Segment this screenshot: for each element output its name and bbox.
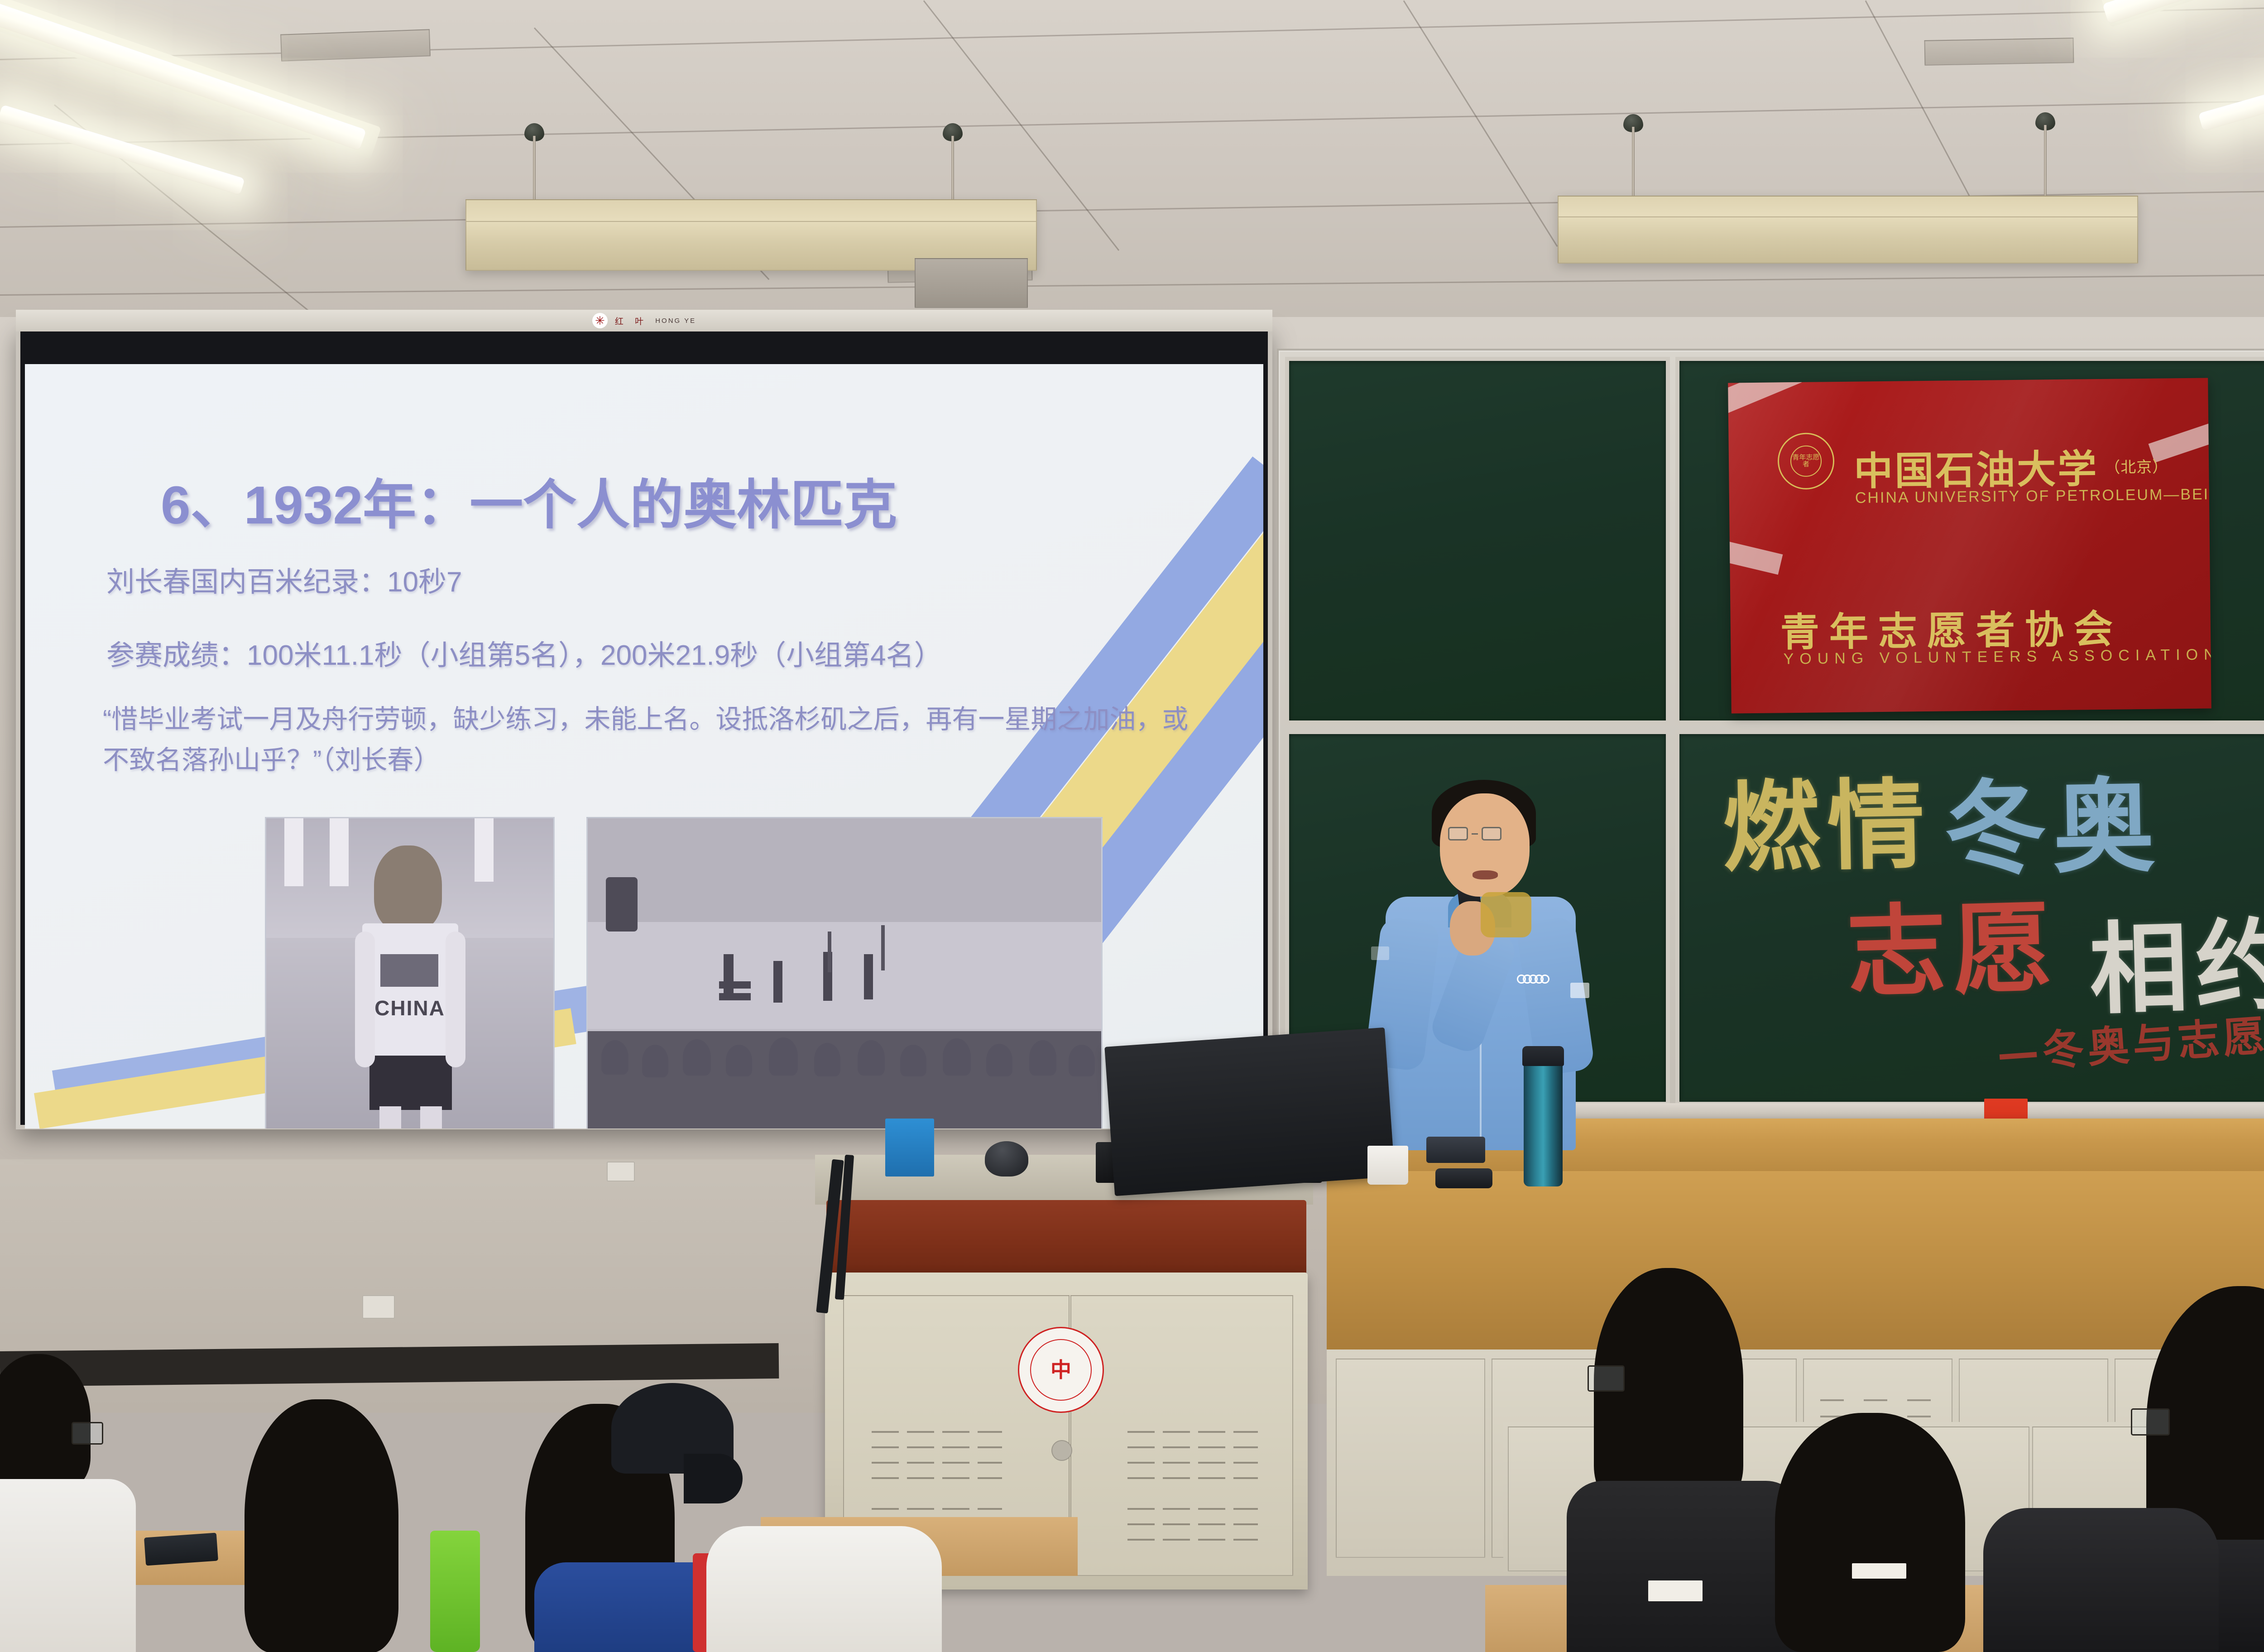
slide-photo-crowd (588, 1031, 1101, 1129)
smartphone[interactable] (1426, 1137, 1485, 1163)
wall-outlet-screen[interactable] (607, 1162, 635, 1181)
student-right-5 (1983, 1508, 2219, 1652)
projection-screen: 6、1932年：一个人的奥林匹克 刘长春国内百米纪录：10秒7 参赛成绩：100… (16, 327, 1272, 1129)
volunteer-seal-inner-text: 青年志愿者 (1790, 445, 1822, 477)
classroom-photo-scene: 6、1932年：一个人的奥林匹克 刘长春国内百米纪录：10秒7 参赛成绩：100… (0, 0, 2264, 1652)
slide-stat-record: 刘长春国内百米纪录：10秒7 (106, 559, 462, 600)
blackboard-panel-right-lower: 燃情 冬奥 志愿 相约 —冬奥与志愿服务宣讲 (1675, 730, 2264, 1106)
maple-leaf-icon: ✳ (592, 313, 608, 328)
student-right-2 (1766, 1413, 2019, 1652)
slide-title: 6、1932年：一个人的奥林匹克 (161, 461, 897, 539)
student-white-shirt (706, 1508, 942, 1652)
projector-mount (915, 258, 1028, 308)
phone-on-desk[interactable] (144, 1532, 218, 1566)
presentation-clicker[interactable] (1435, 1168, 1492, 1188)
volunteer-association-banner: 青年志愿者 中国石油大学 （北京） CHINA UNIVERSITY OF PE… (1728, 378, 2211, 713)
hanging-light-box-right (1558, 196, 2138, 264)
student-glasses-2 (1588, 1365, 1625, 1392)
student-glasses-3 (2131, 1408, 2170, 1436)
student-glasses-1 (72, 1422, 103, 1445)
slide-photo-stadium (586, 817, 1103, 1129)
student-badge (1648, 1580, 1703, 1601)
slide-photo-jersey-label: CHINA (266, 996, 553, 1020)
university-crest-glyph: 中 (1030, 1339, 1092, 1401)
slide-stat-results: 参赛成绩：100米11.1秒（小组第5名），200米21.9秒（小组第4名） (106, 632, 942, 673)
podium-wood-top (826, 1200, 1306, 1277)
tissue-box[interactable] (885, 1119, 934, 1177)
presenter-sleeve-patch (1371, 946, 1389, 960)
presentation-slide: 6、1932年：一个人的奥林匹克 刘长春国内百米纪录：10秒7 参赛成绩：100… (25, 364, 1263, 1129)
presenter-lanyard (1481, 892, 1531, 937)
presenter-shoulder-patch (1570, 983, 1589, 998)
banner-tape-top (1728, 378, 1802, 415)
glasses-icon (1448, 827, 1501, 840)
baseball-cap-brim (684, 1454, 743, 1503)
chalk-text-ranqing: 燃情 (1721, 746, 1933, 890)
student-left-longhair (235, 1399, 426, 1652)
student-far-left (0, 1354, 163, 1652)
ceiling-vent-center (1924, 38, 2074, 66)
chalk-text-zhiyuan: 志愿 (1845, 867, 2061, 1016)
university-crest-icon: 中 (1018, 1327, 1104, 1413)
volunteer-seal-icon: 青年志愿者 (1777, 432, 1834, 490)
green-drink-bottle[interactable] (430, 1531, 480, 1652)
water-bottle-cap[interactable] (1522, 1046, 1564, 1066)
water-bottle[interactable] (1524, 1055, 1563, 1186)
podium-lock[interactable] (1051, 1440, 1072, 1461)
computer-mouse[interactable] (985, 1141, 1028, 1177)
banner-university-city: （北京） (2105, 454, 2168, 477)
desk-paper-slip (1852, 1563, 1906, 1579)
banner-tape-mid (1728, 538, 1783, 575)
cabinet-door-1[interactable] (1336, 1359, 1485, 1558)
screen-brand-bar: ✳ 红 叶 HONG YE (16, 310, 1272, 331)
slide-photo-athlete: CHINA (265, 817, 555, 1129)
ceiling-vent-left (280, 29, 431, 61)
presenter-mouth (1473, 870, 1498, 879)
olympic-rings-icon (1517, 975, 1546, 984)
screen-brand-cn: 红 叶 (615, 315, 648, 327)
wall-outlet-left[interactable] (362, 1295, 395, 1319)
paper-cup[interactable] (1367, 1146, 1408, 1185)
banner-university-name-en: CHINA UNIVERSITY OF PETROLEUM—BEIJING (1855, 485, 2211, 507)
podium-vent-right (1127, 1431, 1259, 1549)
presenter-head (1440, 793, 1530, 897)
screen-brand-en: HONG YE (655, 317, 696, 325)
computer-monitor[interactable] (1104, 1028, 1395, 1196)
slide-quote: “惜毕业考试一月及舟行劳顿，缺少练习，未能上名。设抵洛杉矶之后，再有一星期之加油… (103, 699, 1208, 781)
blackboard-panel-upper-left (1285, 357, 1670, 725)
